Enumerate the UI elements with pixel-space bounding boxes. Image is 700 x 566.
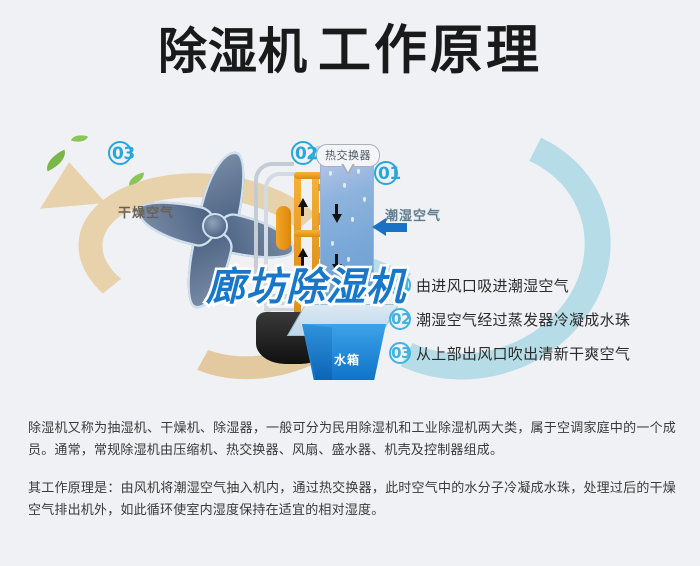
- air-intake-arrow-icon: [372, 218, 386, 236]
- step-text: 由进风口吸进潮湿空气: [416, 275, 569, 296]
- watermark-text: 廊坊除湿机: [206, 268, 406, 307]
- list-item: 03 从上部出风口吹出清新干爽空气: [386, 336, 686, 370]
- diagram-badge-dry-air: 03: [112, 144, 135, 164]
- step-number: 02: [386, 310, 416, 328]
- paragraph-1: 除湿机又称为抽湿机、干燥机、除湿器，一般可分为民用除湿机和工业除湿机两大类，属于…: [28, 418, 676, 462]
- dehumidifier-unit: 水箱: [250, 144, 375, 369]
- paragraph-2: 其工作原理是：由风机将潮湿空气抽入机内，通过热交换器，此时空气中的水分子冷凝成水…: [28, 478, 676, 522]
- water-droplet-icon: [363, 197, 366, 202]
- list-item: 01 由进风口吸进潮湿空气: [386, 268, 686, 302]
- heat-exchanger-callout-tail: [341, 164, 355, 175]
- flow-arrow-up-icon: [298, 198, 308, 207]
- water-tank-label: 水箱: [334, 351, 360, 368]
- dehumidifier-infographic-page: { "title": { "main": "除湿机", "sub": "工作原理…: [0, 0, 700, 566]
- leaf-icon: [71, 132, 88, 145]
- dry-air-label: 干燥空气: [118, 202, 174, 221]
- water-droplet-icon: [331, 241, 334, 246]
- water-droplet-icon: [329, 171, 332, 176]
- flow-arrow-stem: [335, 204, 338, 214]
- description-block: 除湿机又称为抽湿机、干燥机、除湿器，一般可分为民用除湿机和工业除湿机两大类，属于…: [28, 418, 676, 538]
- diagram-badge-heat-exchanger: 02: [295, 144, 318, 164]
- flow-arrow-up-icon: [298, 248, 308, 257]
- air-intake-arrow-stem: [385, 223, 407, 232]
- step-number: 03: [386, 344, 416, 362]
- list-item: 02 潮湿空气经过蒸发器冷凝成水珠: [386, 302, 686, 336]
- flow-arrow-stem: [301, 206, 304, 216]
- fan-hub: [204, 215, 226, 237]
- accumulator-icon: [276, 206, 291, 250]
- page-title: 除湿机工作原理: [0, 18, 700, 84]
- water-droplet-icon: [347, 257, 350, 262]
- step-text: 从上部出风口吹出清新干爽空气: [416, 343, 630, 364]
- flow-arrow-down-icon: [332, 214, 342, 223]
- water-droplet-icon: [357, 169, 360, 174]
- diagram-badge-moist-air: 01: [378, 164, 401, 184]
- page-title-sub: 工作原理: [318, 20, 542, 81]
- page-title-main: 除湿机: [158, 23, 308, 80]
- water-droplet-icon: [351, 217, 354, 222]
- steps-list: 01 由进风口吸进潮湿空气 02 潮湿空气经过蒸发器冷凝成水珠 03 从上部出风…: [386, 268, 686, 370]
- moist-air-label: 潮湿空气: [385, 205, 441, 224]
- step-text: 潮湿空气经过蒸发器冷凝成水珠: [416, 309, 630, 330]
- water-droplet-icon: [343, 183, 346, 188]
- flow-arrow-stem: [335, 254, 338, 264]
